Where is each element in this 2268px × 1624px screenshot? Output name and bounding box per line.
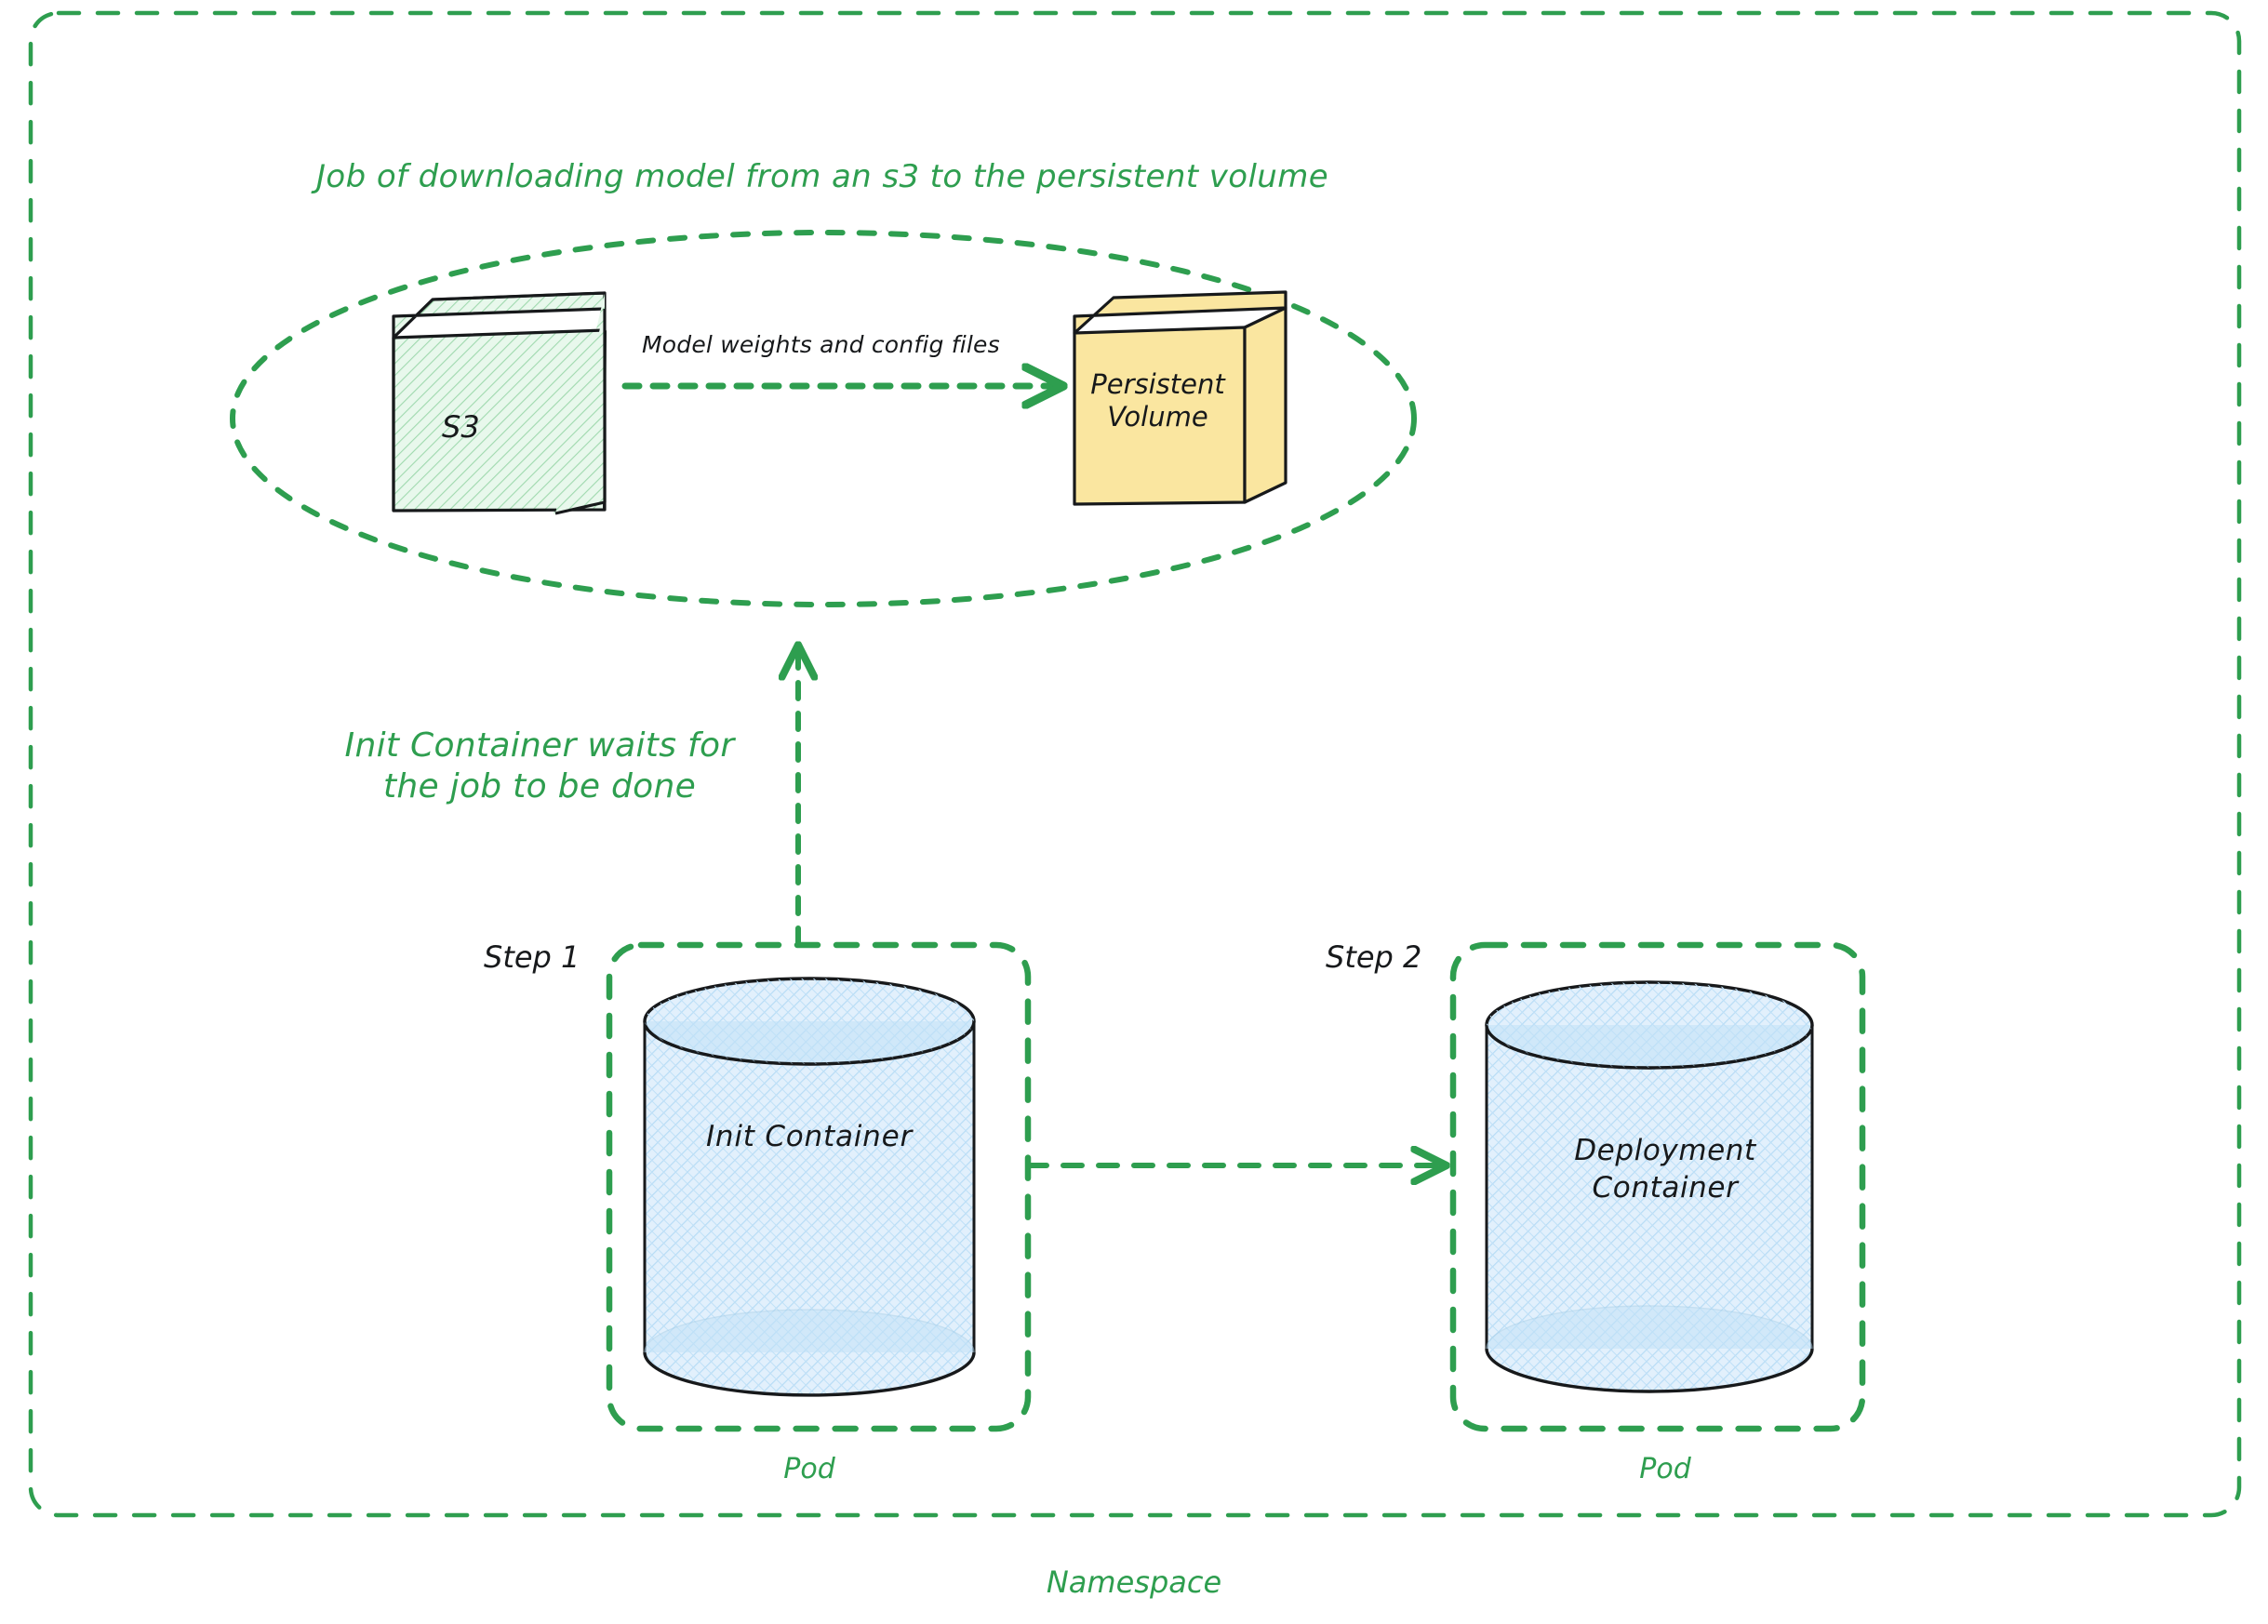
diagram-canvas: Job of downloading model from an s3 to t… xyxy=(0,0,2268,1624)
deployment-container-label-line1: Deployment xyxy=(1574,1134,1756,1167)
pod-1-label: Pod xyxy=(716,1453,902,1487)
diagram-vector-layer xyxy=(0,0,2268,1624)
pod-2-label: Pod xyxy=(1572,1453,1758,1487)
wait-edge-label-line2: the job to be done xyxy=(383,767,696,805)
deployment-container-label-line2: Container xyxy=(1593,1171,1739,1205)
step-1-label: Step 1 xyxy=(484,939,580,976)
namespace-label: Namespace xyxy=(976,1564,1292,1601)
job-title-label: Job of downloading model from an s3 to t… xyxy=(316,158,1328,196)
s3-label: S3 xyxy=(442,409,480,446)
wait-edge-label-line1: Init Container waits for xyxy=(345,726,735,765)
step-2-label: Step 2 xyxy=(1326,939,1421,976)
deployment-container-label: DeploymentContainer xyxy=(1479,1133,1851,1206)
init-container-cylinder xyxy=(645,978,974,1395)
pv-label-line1: Persistent xyxy=(1090,368,1225,400)
pv-label-line2: Volume xyxy=(1107,401,1207,433)
persistent-volume-label: PersistentVolume xyxy=(1076,368,1239,434)
init-container-label: Init Container xyxy=(614,1120,1005,1155)
edge-label-model-weights: Model weights and config files xyxy=(642,331,1000,360)
wait-edge-label: Init Container waits forthe job to be do… xyxy=(293,725,786,807)
s3-cube xyxy=(394,293,606,514)
